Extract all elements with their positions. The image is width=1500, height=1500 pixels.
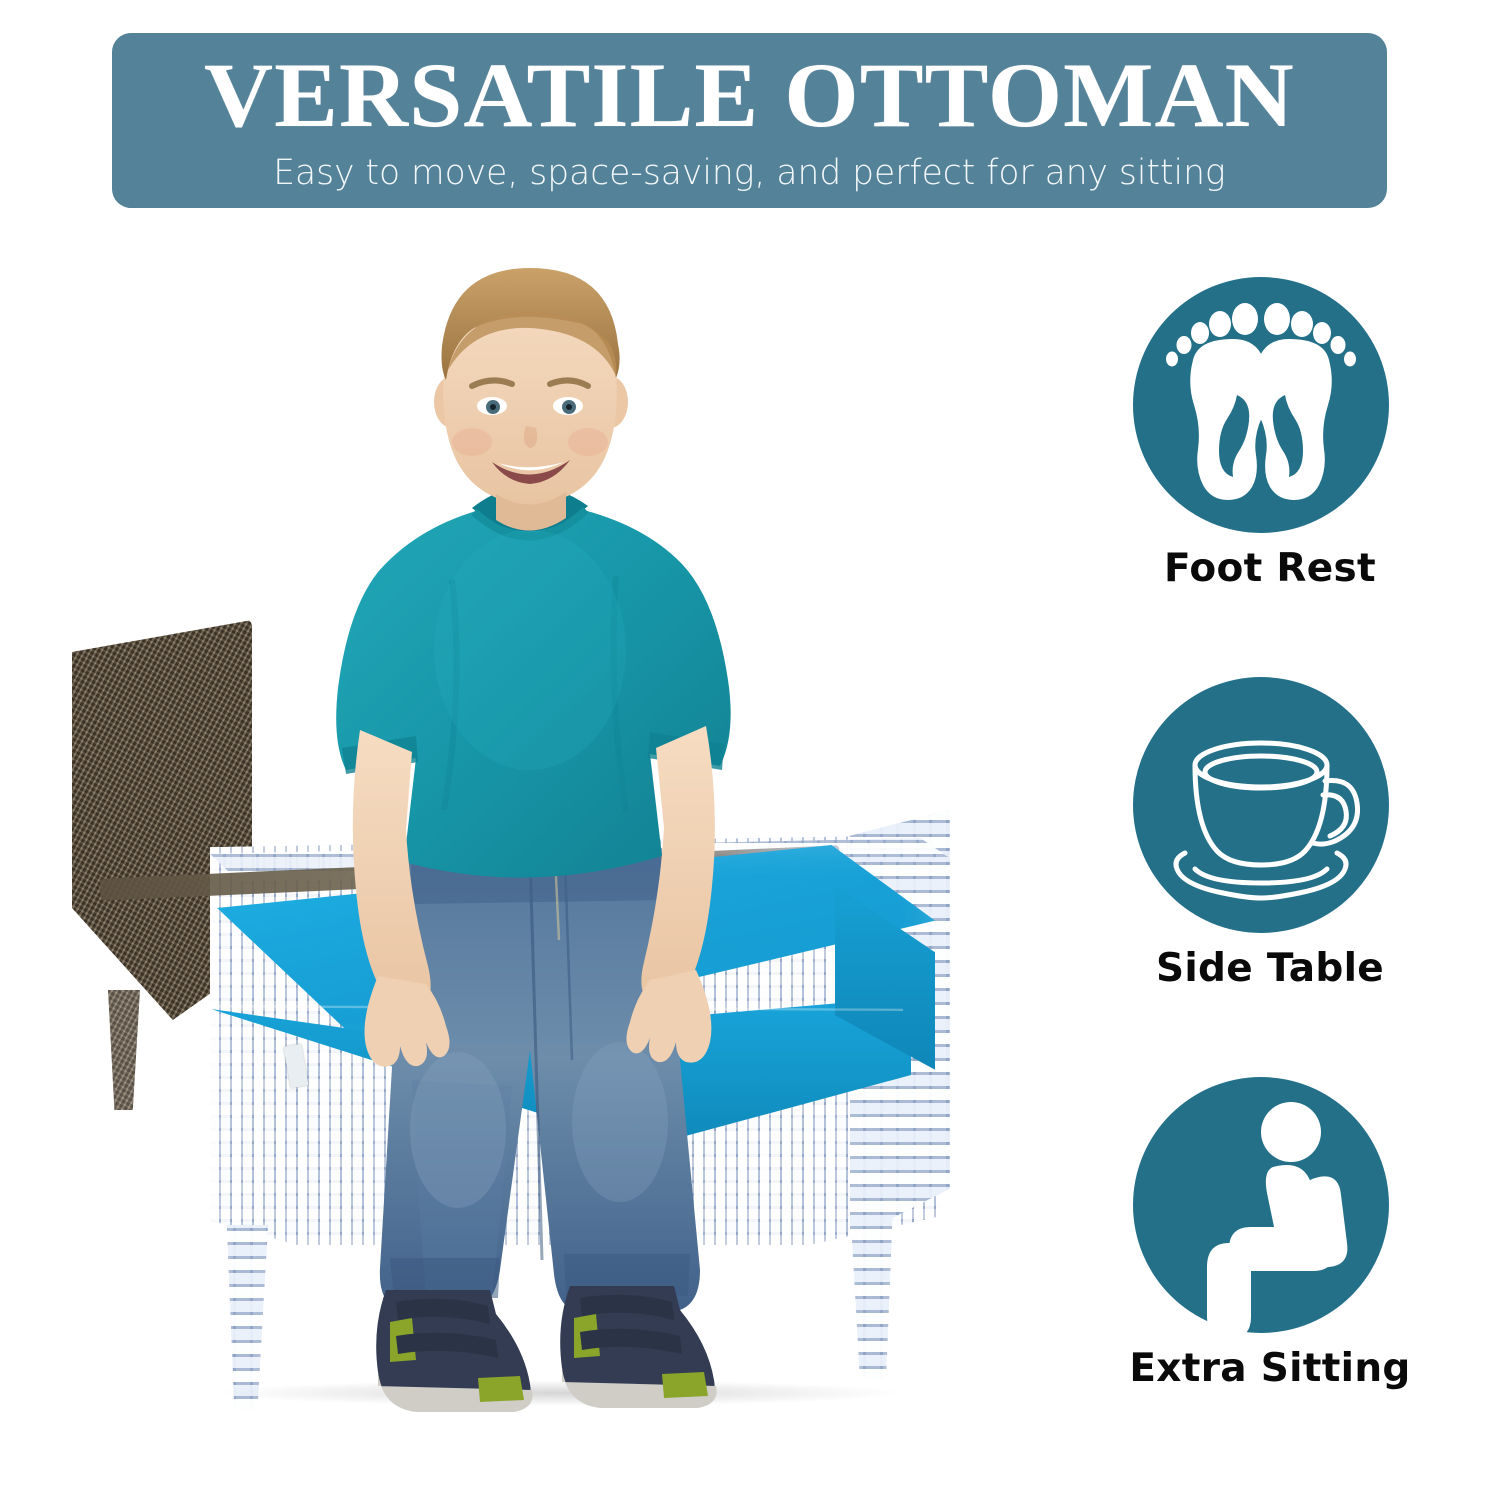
feature-label: Extra Sitting	[1085, 1346, 1455, 1391]
feature-label: Foot Rest	[1085, 546, 1455, 591]
product-infographic: VERSATILE OTTOMAN Easy to move, space-sa…	[0, 0, 1500, 1500]
boy-jeans	[380, 848, 700, 1312]
feature-item-side-table: Side Table	[1120, 650, 1420, 1050]
header-banner: VERSATILE OTTOMAN Easy to move, space-sa…	[112, 33, 1387, 208]
feature-item-extra-sitting: Extra Sitting	[1120, 1050, 1420, 1450]
seated-person-icon	[1133, 1077, 1389, 1333]
product-photo	[60, 250, 1060, 1500]
page-subtitle: Easy to move, space-saving, and perfect …	[273, 151, 1225, 195]
boy-head	[434, 268, 628, 531]
smiling-boy	[60, 250, 1060, 1500]
teacup-icon	[1133, 677, 1389, 933]
feature-item-foot-rest: Foot Rest	[1120, 250, 1420, 650]
feature-list: Foot Rest	[1120, 250, 1420, 1450]
boy-shoes	[376, 1286, 716, 1412]
page-title: VERSATILE OTTOMAN	[204, 39, 1295, 151]
footprints-icon	[1133, 277, 1389, 533]
feature-label: Side Table	[1085, 946, 1455, 991]
